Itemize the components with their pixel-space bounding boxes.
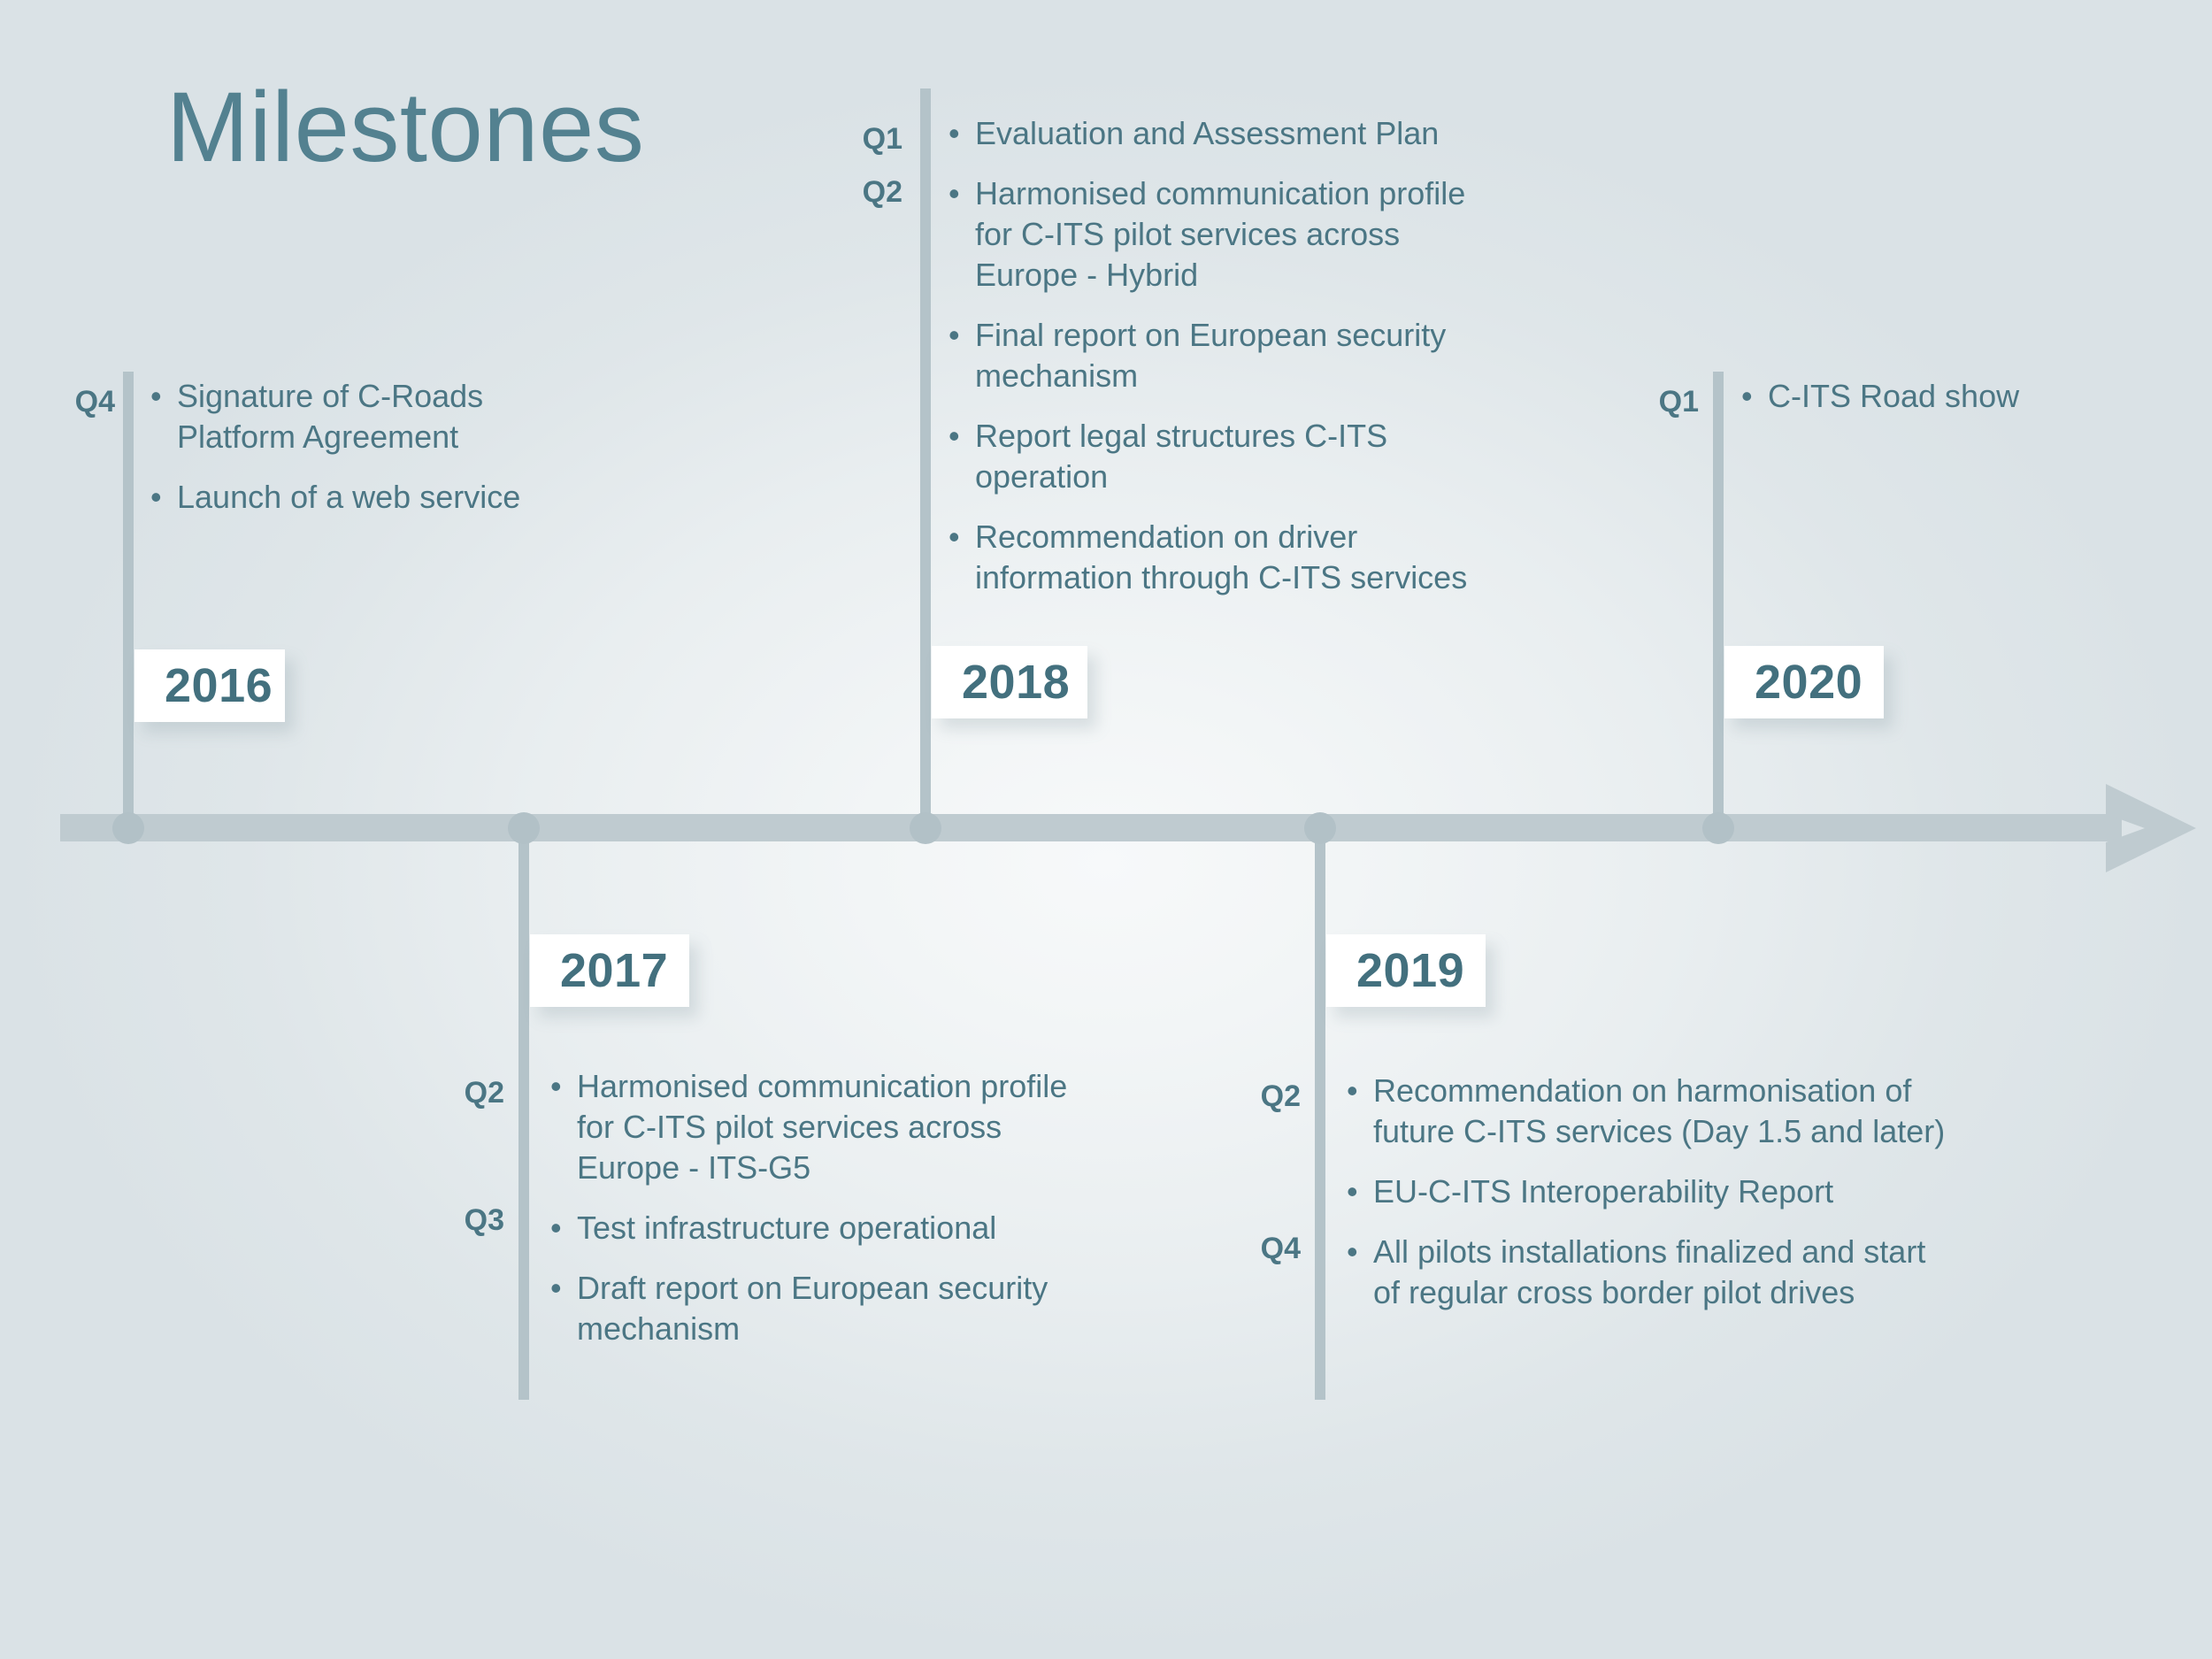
bullet-text: Final report on European security mechan… xyxy=(975,315,1446,396)
bullet-text: Recommendation on harmonisation of futur… xyxy=(1373,1071,1945,1152)
list-item: • Recommendation on harmonisation of fut… xyxy=(1347,1071,2090,1152)
bullet-icon: • xyxy=(1741,376,1768,417)
bullet-text: Draft report on European security mechan… xyxy=(577,1268,1048,1349)
quarter-column-2017: Q2 Q3 xyxy=(389,0,504,1)
quarter-label-2019-q2: Q2 xyxy=(1261,1081,1301,1111)
year-flag-2017: 2017 xyxy=(530,934,689,1007)
year-label-2017: 2017 xyxy=(560,947,668,995)
year-label-2020: 2020 xyxy=(1755,658,1863,706)
bullet-icon: • xyxy=(949,173,975,214)
list-item: • Report legal structures C-ITS operatio… xyxy=(949,416,1603,497)
bullet-icon: • xyxy=(550,1066,577,1107)
node-dot-2016 xyxy=(112,812,144,844)
year-flag-2018: 2018 xyxy=(932,646,1087,718)
stem-2019 xyxy=(1315,828,1325,1400)
bullet-list-2018: • Evaluation and Assessment Plan • Harmo… xyxy=(949,113,1603,598)
bullet-icon: • xyxy=(949,416,975,457)
bullet-list-2019: • Recommendation on harmonisation of fut… xyxy=(1347,1071,2090,1313)
bullet-text: All pilots installations finalized and s… xyxy=(1373,1232,1925,1313)
bullet-text: Evaluation and Assessment Plan xyxy=(975,113,1439,154)
list-item: • C-ITS Road show xyxy=(1741,376,2201,417)
node-dot-2019 xyxy=(1304,812,1336,844)
node-dot-2018 xyxy=(910,812,941,844)
bullet-text: Harmonised communication profile for C-I… xyxy=(577,1066,1067,1188)
quarter-label-2017-q2: Q2 xyxy=(465,1078,504,1108)
quarter-label-2017-q3: Q3 xyxy=(465,1205,504,1235)
bullet-icon: • xyxy=(1347,1232,1373,1272)
bullet-icon: • xyxy=(1347,1071,1373,1111)
list-item: • EU-C-ITS Interoperability Report xyxy=(1347,1171,2090,1212)
bullet-text: EU-C-ITS Interoperability Report xyxy=(1373,1171,1833,1212)
timeline-axis-bar xyxy=(60,814,2122,841)
bullet-list-2016: • Signature of C-Roads Platform Agreemen… xyxy=(150,376,646,518)
bullet-text: Report legal structures C-ITS operation xyxy=(975,416,1387,497)
bullet-list-2017: • Harmonised communication profile for C… xyxy=(550,1066,1205,1349)
bullet-text: Signature of C-Roads Platform Agreement xyxy=(177,376,483,457)
bullet-text: Launch of a web service xyxy=(177,477,520,518)
year-flag-2020: 2020 xyxy=(1724,646,1884,718)
year-label-2018: 2018 xyxy=(962,658,1070,706)
quarter-label-2018-q2: Q2 xyxy=(863,177,902,207)
node-dot-2017 xyxy=(508,812,540,844)
quarter-column-2018: Q1 Q2 xyxy=(787,0,902,1)
timeline-diagram: Milestones 2016 Q4 • Signature of C-Road… xyxy=(0,0,2212,1659)
list-item: • Test infrastructure operational xyxy=(550,1208,1205,1248)
bullet-list-2020: • C-ITS Road show xyxy=(1741,376,2201,417)
quarter-column-2020: Q1 xyxy=(1584,0,1699,1)
quarter-column-2019: Q2 Q4 xyxy=(1186,0,1301,1)
year-label-2019: 2019 xyxy=(1356,947,1464,995)
quarter-label-2020-q1: Q1 xyxy=(1659,387,1699,417)
list-item: • Final report on European security mech… xyxy=(949,315,1603,396)
list-item: • Recommendation on driver information t… xyxy=(949,517,1603,598)
quarter-label-2018-q1: Q1 xyxy=(863,124,902,154)
bullet-icon: • xyxy=(949,517,975,557)
quarter-label-2019-q4: Q4 xyxy=(1261,1233,1301,1263)
bullet-icon: • xyxy=(150,376,177,417)
stem-2017 xyxy=(518,828,529,1400)
bullet-text: C-ITS Road show xyxy=(1768,376,2019,417)
list-item: • Draft report on European security mech… xyxy=(550,1268,1205,1349)
bullet-icon: • xyxy=(949,113,975,154)
list-item: • Harmonised communication profile for C… xyxy=(949,173,1603,296)
quarter-label-2016-q4: Q4 xyxy=(75,387,115,417)
list-item: • Harmonised communication profile for C… xyxy=(550,1066,1205,1188)
list-item: • Signature of C-Roads Platform Agreemen… xyxy=(150,376,646,457)
stem-2020 xyxy=(1713,372,1724,828)
year-flag-2016: 2016 xyxy=(134,649,285,722)
bullet-icon: • xyxy=(150,477,177,518)
list-item: • All pilots installations finalized and… xyxy=(1347,1232,2090,1313)
bullet-text: Recommendation on driver information thr… xyxy=(975,517,1467,598)
list-item: • Evaluation and Assessment Plan xyxy=(949,113,1603,154)
year-label-2016: 2016 xyxy=(165,662,273,710)
node-dot-2020 xyxy=(1702,812,1734,844)
bullet-icon: • xyxy=(550,1268,577,1309)
bullet-text: Harmonised communication profile for C-I… xyxy=(975,173,1465,296)
bullet-icon: • xyxy=(550,1208,577,1248)
list-item: • Launch of a web service xyxy=(150,477,646,518)
bullet-icon: • xyxy=(949,315,975,356)
timeline-arrow-icon xyxy=(2099,780,2196,876)
stem-2016 xyxy=(123,372,134,828)
bullet-icon: • xyxy=(1347,1171,1373,1212)
quarter-column-2016: Q4 xyxy=(0,0,115,1)
bullet-text: Test infrastructure operational xyxy=(577,1208,996,1248)
page-title: Milestones xyxy=(166,78,644,177)
stem-2018 xyxy=(920,88,931,828)
year-flag-2019: 2019 xyxy=(1326,934,1486,1007)
